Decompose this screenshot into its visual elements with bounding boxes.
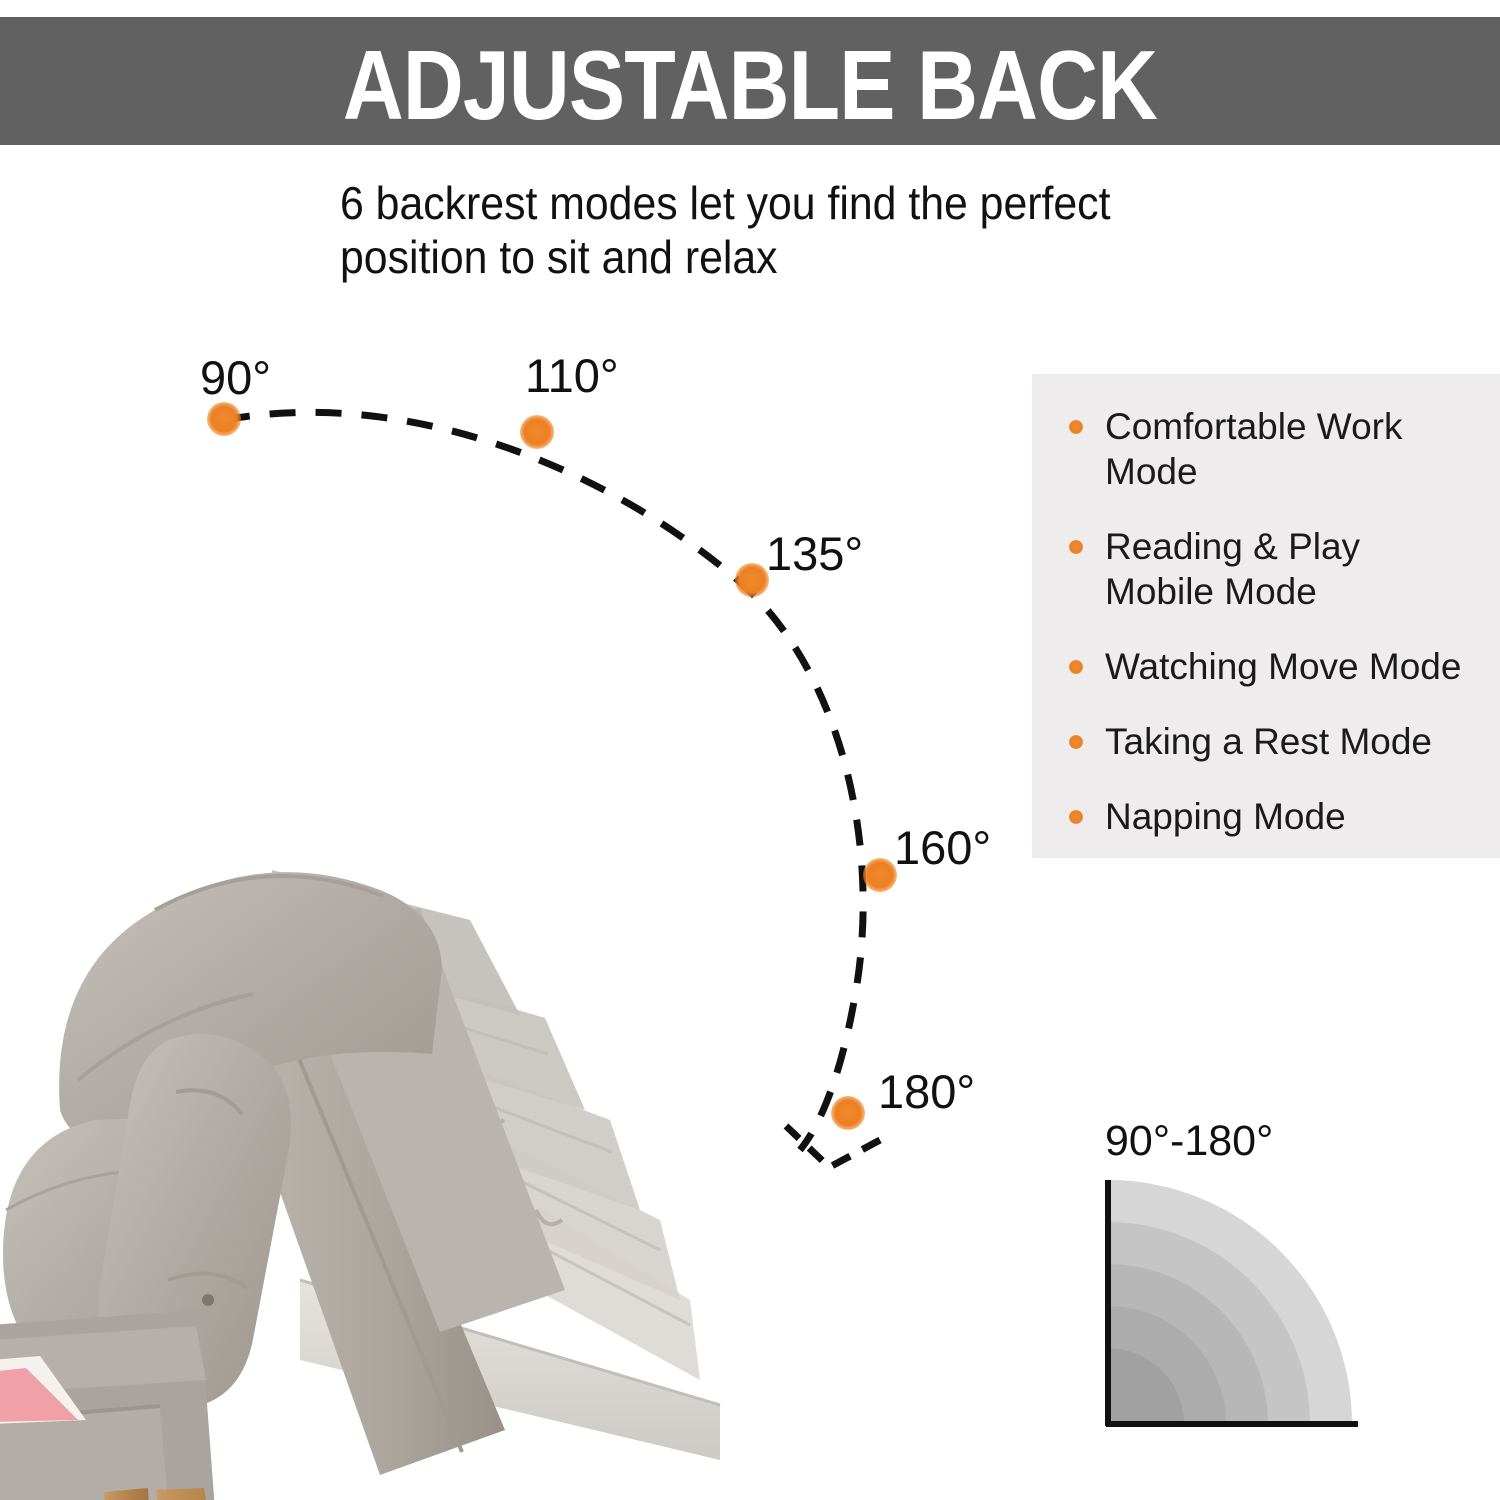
infographic-page: ADJUSTABLE BACK 6 backrest modes let you… [0, 0, 1500, 1500]
angle-dot-160[interactable] [863, 858, 897, 892]
list-item-label: Napping Mode [1105, 796, 1346, 837]
header-band: ADJUSTABLE BACK [0, 17, 1500, 145]
angle-label-180: 180° [878, 1068, 975, 1115]
angle-range-diagram: 90°-180° [1090, 1118, 1400, 1448]
list-item[interactable]: Watching Move Mode [1069, 644, 1489, 689]
list-item-label: Comfortable Work Mode [1105, 406, 1402, 492]
quarter-circle-arcs [1090, 1180, 1380, 1440]
list-item[interactable]: Comfortable Work Mode [1069, 404, 1489, 494]
subtitle-line-2: position to sit and relax [340, 230, 1140, 284]
feature-list: Comfortable Work Mode Reading & Play Mob… [1069, 404, 1489, 869]
list-item[interactable]: Reading & Play Mobile Mode [1069, 524, 1489, 614]
list-item[interactable]: Napping Mode [1069, 794, 1489, 839]
bullet-dot-icon [1069, 540, 1083, 554]
angle-range-label: 90°-180° [1105, 1118, 1273, 1164]
subtitle-line-1: 6 backrest modes let you find the perfec… [340, 176, 1140, 230]
bullet-dot-icon [1069, 420, 1083, 434]
armrest-with-pocket [0, 1310, 230, 1500]
bullet-dot-icon [1069, 810, 1083, 824]
angle-dot-180[interactable] [831, 1096, 865, 1130]
feature-panel: Comfortable Work Mode Reading & Play Mob… [1032, 374, 1500, 858]
page-title: ADJUSTABLE BACK [105, 35, 1395, 135]
bullet-dot-icon [1069, 660, 1083, 674]
angle-label-90: 90° [200, 354, 271, 401]
list-item-label: Reading & Play Mobile Mode [1105, 526, 1360, 612]
subtitle: 6 backrest modes let you find the perfec… [340, 176, 1140, 284]
chair-illustration [0, 420, 780, 1500]
angle-label-160: 160° [894, 824, 991, 871]
list-item-label: Taking a Rest Mode [1105, 721, 1432, 762]
angle-label-110: 110° [525, 352, 619, 399]
bullet-dot-icon [1069, 735, 1083, 749]
list-item-label: Watching Move Mode [1105, 646, 1461, 687]
list-item[interactable]: Taking a Rest Mode [1069, 719, 1489, 764]
angle-label-135: 135° [766, 530, 863, 577]
